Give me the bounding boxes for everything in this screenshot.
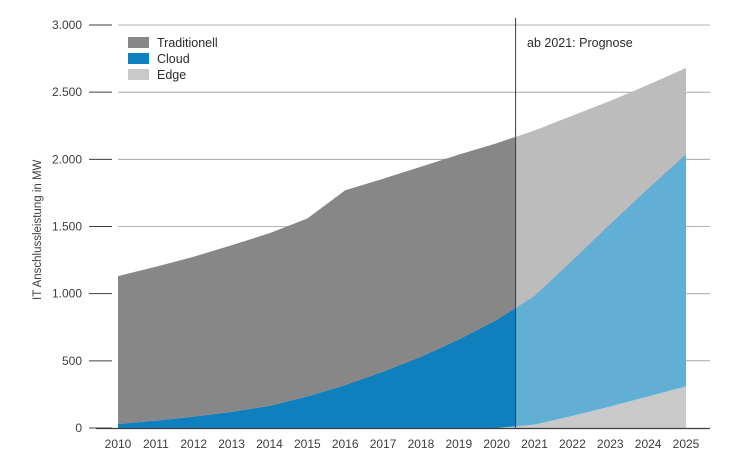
y-tick-label: 2.000	[52, 152, 82, 166]
legend-swatch-cloud	[128, 53, 149, 64]
x-tick-label-2020: 2020	[483, 437, 510, 451]
x-tick-label-2011: 2011	[143, 437, 169, 451]
x-tick-label-2022: 2022	[559, 437, 586, 451]
y-tick-label: 2.500	[52, 85, 82, 99]
x-tick-label-2024: 2024	[635, 437, 662, 451]
y-axis-tick-labels: 05001.0001.5002.0002.5003.000	[52, 18, 82, 435]
legend-label-edge: Edge	[157, 68, 186, 82]
legend: TraditionellCloudEdge	[128, 36, 218, 82]
legend-label-cloud: Cloud	[157, 52, 190, 66]
stacked-area-series	[118, 68, 686, 428]
y-axis-ticks	[89, 25, 112, 428]
y-tick-label: 1.000	[52, 287, 82, 301]
y-tick-label: 0	[75, 421, 82, 435]
legend-swatch-edge	[128, 69, 149, 80]
legend-swatch-traditionell	[128, 37, 149, 48]
x-tick-label-2025: 2025	[673, 437, 700, 451]
y-tick-label: 500	[62, 354, 82, 368]
x-tick-label-2013: 2013	[218, 437, 245, 451]
x-tick-label-2010: 2010	[105, 437, 132, 451]
x-tick-label-2021: 2021	[521, 437, 548, 451]
x-tick-label-2014: 2014	[256, 437, 283, 451]
x-tick-label-2016: 2016	[332, 437, 359, 451]
x-tick-label-2012: 2012	[180, 437, 207, 451]
x-axis-tick-labels: 2010201120122013201420152016201720182019…	[105, 437, 700, 451]
y-tick-label: 1.500	[52, 220, 82, 234]
y-axis-title: IT Anschlussleistung in MW	[32, 159, 44, 300]
x-tick-label-2023: 2023	[597, 437, 624, 451]
chart-canvas: 05001.0001.5002.0002.5003.000 2010201120…	[0, 0, 741, 464]
x-tick-label-2019: 2019	[445, 437, 472, 451]
x-tick-label-2017: 2017	[370, 437, 397, 451]
legend-label-traditionell: Traditionell	[157, 36, 218, 50]
x-tick-label-2015: 2015	[294, 437, 321, 451]
forecast-annotation-label: ab 2021: Prognose	[527, 36, 633, 50]
area-chart: 05001.0001.5002.0002.5003.000 2010201120…	[0, 0, 741, 464]
x-tick-label-2018: 2018	[408, 437, 435, 451]
y-tick-label: 3.000	[52, 18, 82, 32]
